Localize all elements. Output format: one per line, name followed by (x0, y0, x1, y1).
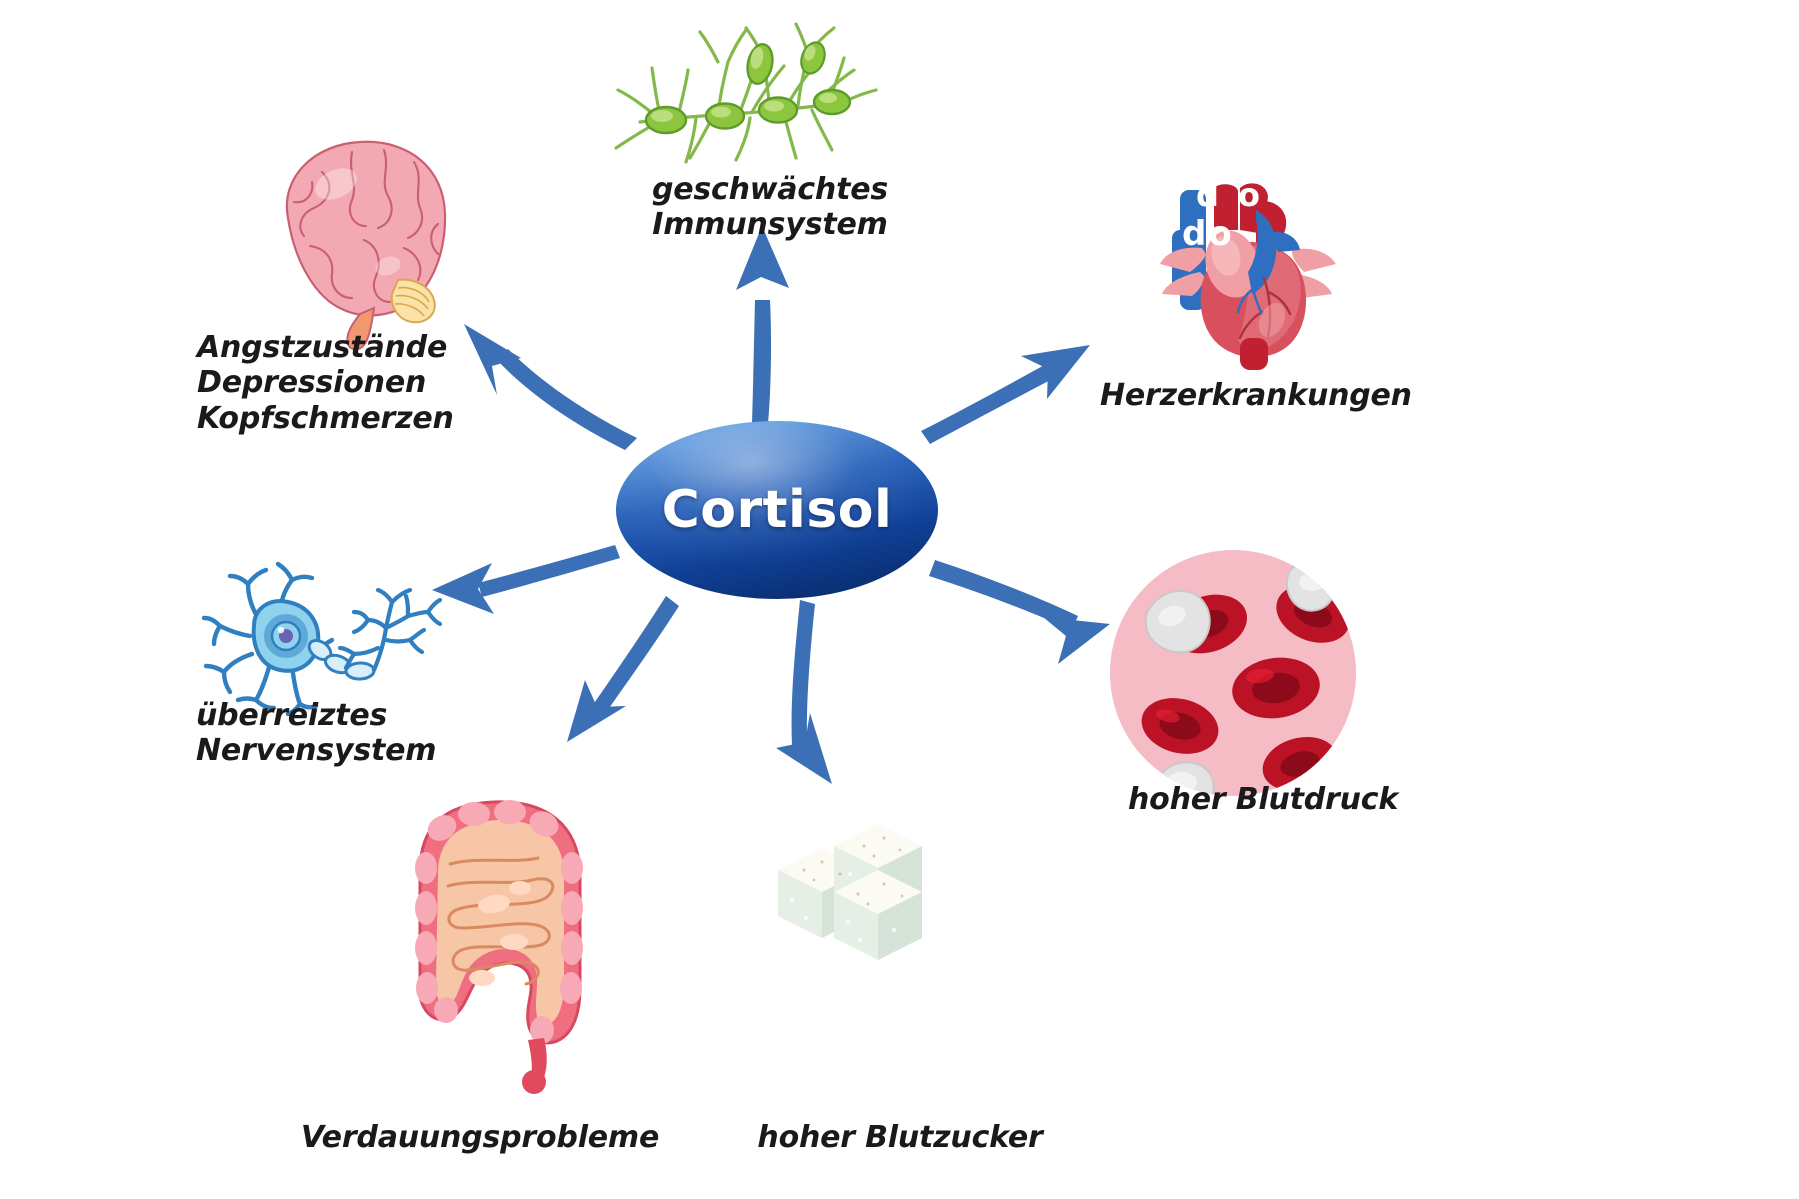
arrow-to-immune (736, 226, 789, 424)
digestion-label: Verdauungsprobleme (290, 1120, 670, 1155)
nervous-label: überreiztes Nervensystem (196, 698, 456, 769)
arrow-to-blood-pressure (929, 560, 1110, 664)
lymphocyte-chain-icon (600, 18, 880, 168)
arrow-to-digestion (567, 596, 679, 742)
neuron-icon (196, 530, 456, 710)
arrow-to-nervous (432, 545, 620, 614)
intestine-icon (382, 782, 622, 1082)
cortisol-label: Cortisol (617, 422, 937, 598)
blood-cells-icon (1108, 548, 1358, 798)
diagram-canvas: Cortisol (0, 0, 1799, 1199)
blood-sugar-label: hoher Blutzucker (700, 1120, 1100, 1155)
arrow-to-heart (921, 345, 1090, 444)
cortisol-node[interactable]: Cortisol (617, 422, 937, 598)
blood-pressure-label: hoher Blutdruck (1128, 782, 1458, 817)
immune-label: geschwächtes Immunsystem (560, 172, 980, 243)
arrow-to-brain (464, 324, 637, 450)
heart-organ-icon (1152, 172, 1342, 372)
brain-icon (248, 128, 478, 328)
heart-label: Herzerkrankungen (1100, 378, 1430, 413)
brain-label: Angstzustände Depressionen Kopfschmerzen (197, 330, 427, 436)
sugar-cubes-icon (760, 812, 940, 972)
arrow-to-blood-sugar (776, 600, 832, 784)
